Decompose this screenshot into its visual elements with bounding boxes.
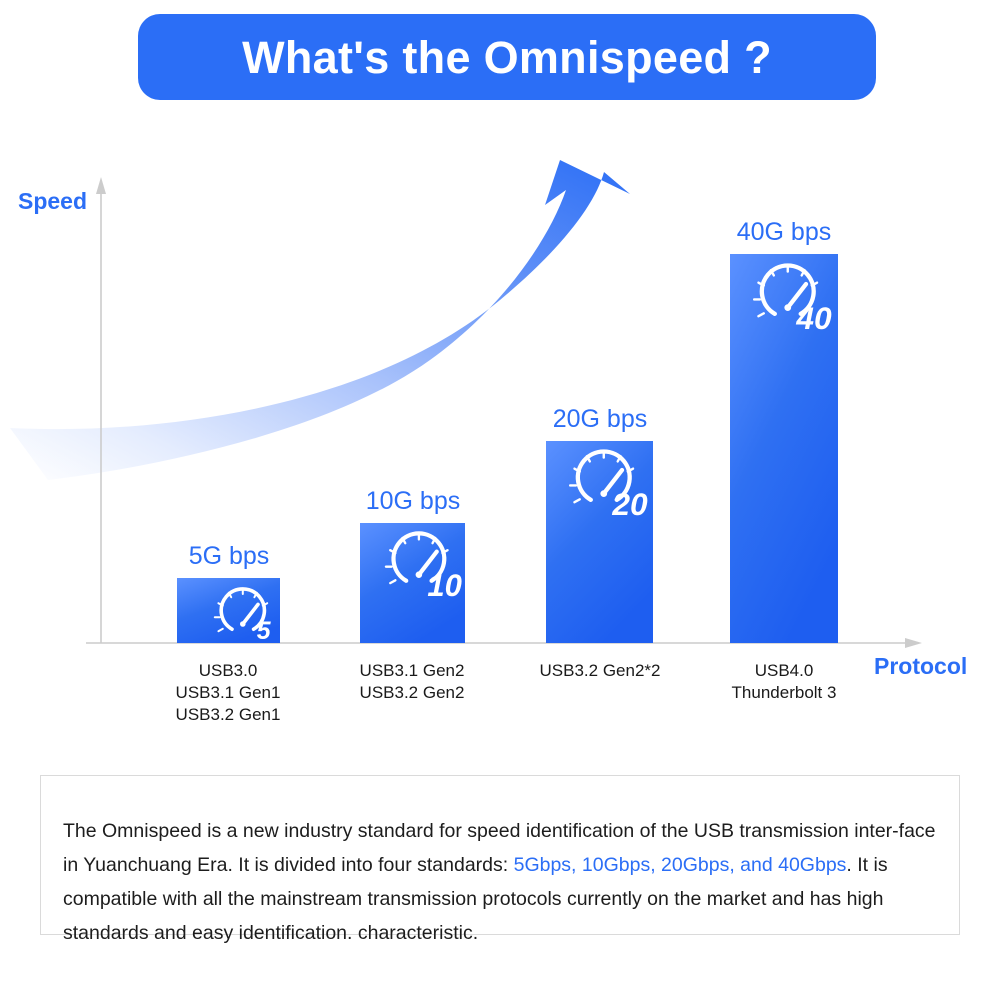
category-line: USB3.2 Gen1 — [138, 704, 318, 726]
category-label-1: USB3.1 Gen2 USB3.2 Gen2 — [322, 660, 502, 704]
svg-text:10: 10 — [427, 568, 462, 603]
speed-protocol-chart: 5 10 — [0, 150, 1000, 760]
category-line: USB3.0 — [138, 660, 318, 682]
category-line: USB3.1 Gen2 — [322, 660, 502, 682]
bar-value-label-20g: 20G bps — [524, 405, 676, 434]
bar-group-40g[interactable]: 40 — [730, 254, 838, 643]
category-label-2: USB3.2 Gen2*2 — [510, 660, 690, 682]
bar-20g[interactable] — [546, 441, 653, 643]
y-axis — [96, 177, 106, 643]
bar-value-label-5g: 5G bps — [153, 542, 305, 571]
bar-group-5g[interactable]: 5 — [177, 578, 280, 645]
y-axis-label: Speed — [18, 188, 87, 215]
category-line: Thunderbolt 3 — [694, 682, 874, 704]
bar-group-20g[interactable]: 20 — [546, 441, 653, 643]
category-line: USB3.2 Gen2*2 — [510, 660, 690, 682]
category-line: USB4.0 — [694, 660, 874, 682]
bar-group-10g[interactable]: 10 — [360, 523, 465, 643]
svg-text:5: 5 — [257, 618, 272, 645]
category-label-3: USB4.0 Thunderbolt 3 — [694, 660, 874, 704]
header-banner: What's the Omnispeed ? — [138, 14, 876, 100]
svg-text:40: 40 — [795, 300, 832, 336]
x-axis-label: Protocol — [874, 653, 967, 680]
bar-value-label-10g: 10G bps — [337, 487, 489, 516]
category-line: USB3.1 Gen1 — [138, 682, 318, 704]
page-title: What's the Omnispeed ? — [242, 35, 772, 80]
svg-text:20: 20 — [611, 486, 648, 522]
category-label-0: USB3.0 USB3.1 Gen1 USB3.2 Gen1 — [138, 660, 318, 726]
category-line: USB3.2 Gen2 — [322, 682, 502, 704]
description-highlight: 5Gbps, 10Gbps, 20Gbps, and 40Gbps — [514, 854, 847, 876]
bar-value-label-40g: 40G bps — [708, 218, 860, 247]
description-text: The Omnispeed is a new industry standard… — [63, 814, 941, 950]
description-box: The Omnispeed is a new industry standard… — [40, 775, 960, 935]
